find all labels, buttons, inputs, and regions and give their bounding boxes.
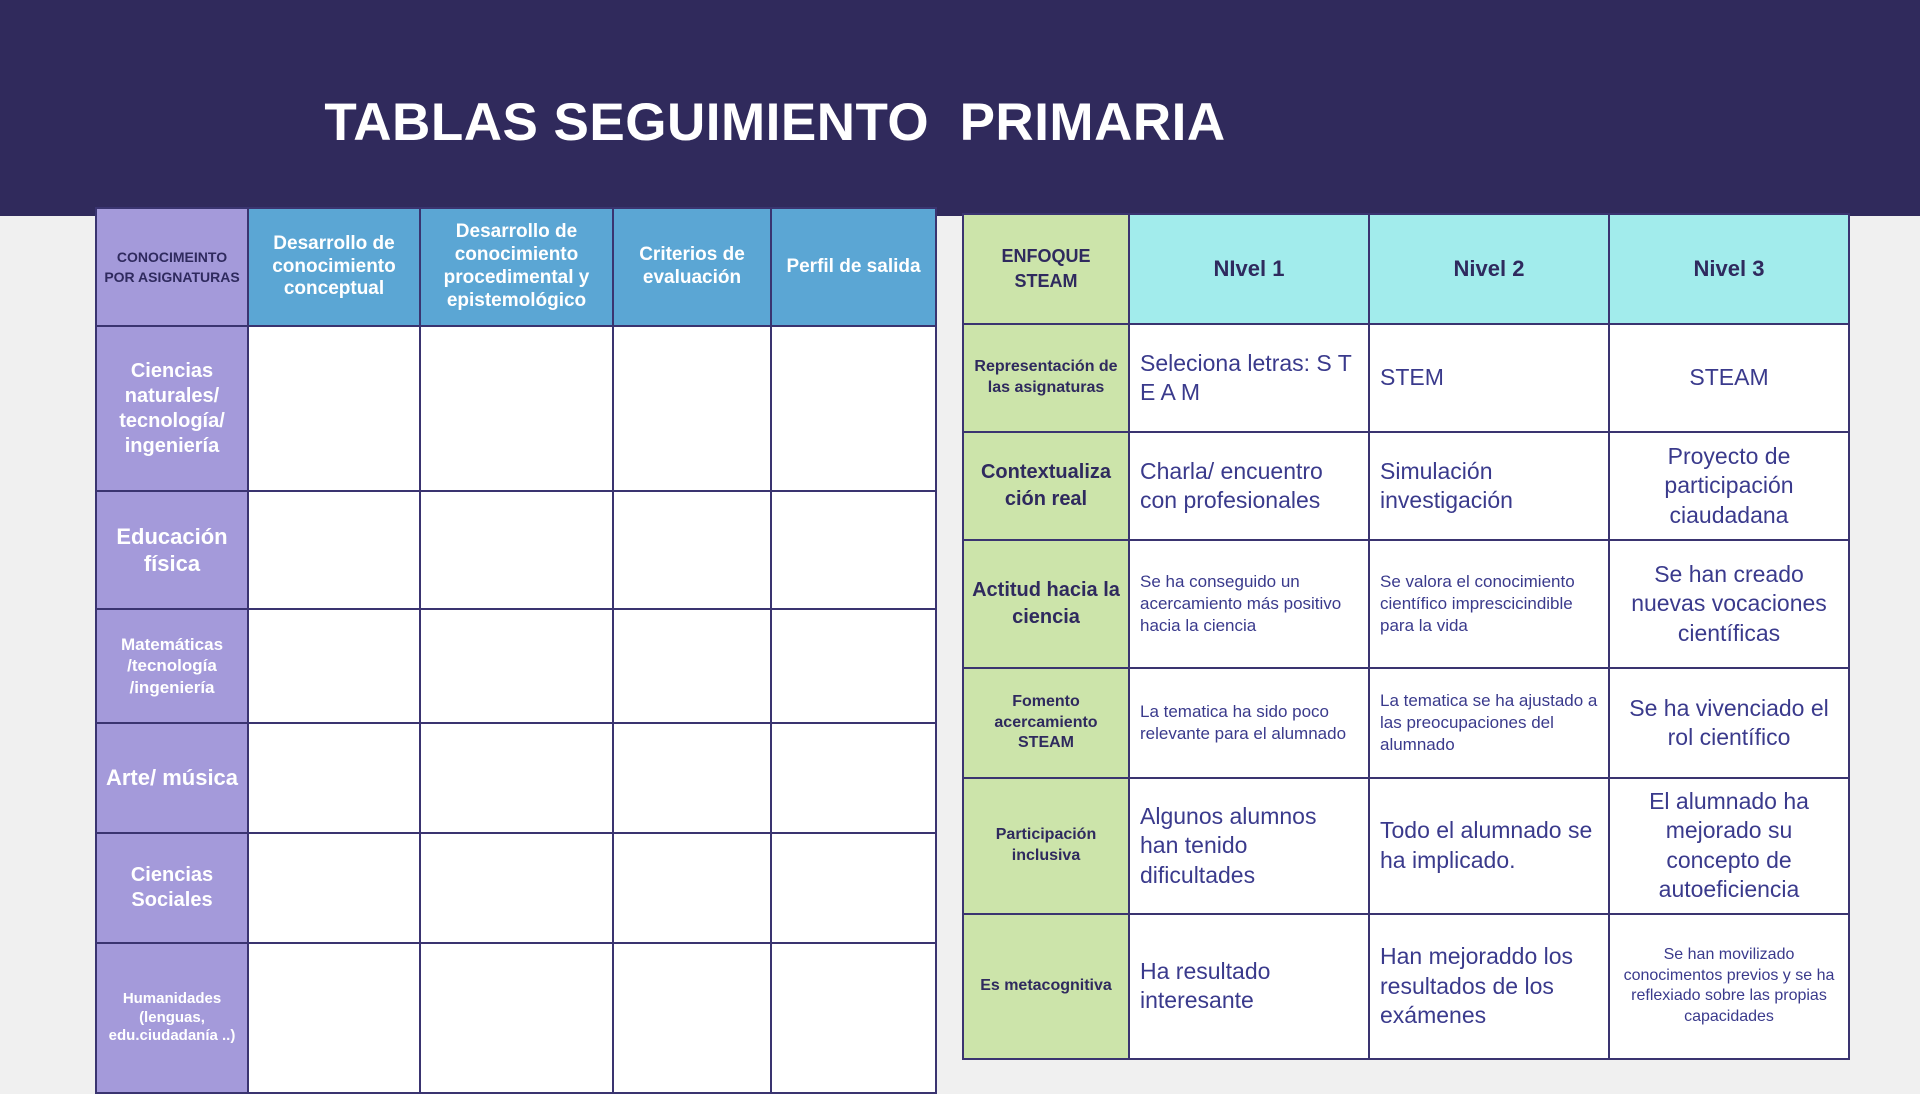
left-cell-5-0[interactable]: [248, 943, 420, 1093]
left-cell-2-2[interactable]: [613, 609, 771, 723]
left-cell-5-1[interactable]: [420, 943, 613, 1093]
table-row: Ciencias naturales/ tecnología/ ingenier…: [96, 326, 936, 491]
left-row-label-matematicas: Matemáticas /tecnología /ingeniería: [96, 609, 248, 723]
right-row-label-metacognitiva: Es metacognitiva: [963, 914, 1129, 1059]
left-cell-0-2[interactable]: [613, 326, 771, 491]
left-col-header-procedimental: Desarrollo de conocimiento procedimental…: [420, 208, 613, 326]
table-row: Actitud hacia la ciencia Se ha conseguid…: [963, 540, 1849, 668]
right-cell-actitud-nivel2[interactable]: Se valora el conocimiento científico imp…: [1369, 540, 1609, 668]
left-cell-3-0[interactable]: [248, 723, 420, 833]
left-cell-1-1[interactable]: [420, 491, 613, 609]
left-cell-4-3[interactable]: [771, 833, 936, 943]
table-row: Fomento acercamiento STEAM La tematica h…: [963, 668, 1849, 778]
table-row: Ciencias Sociales: [96, 833, 936, 943]
left-cell-4-1[interactable]: [420, 833, 613, 943]
right-cell-contextualizacion-nivel1[interactable]: Charla/ encuentro con profesionales: [1129, 432, 1369, 540]
table-row: Arte/ música: [96, 723, 936, 833]
left-cell-5-2[interactable]: [613, 943, 771, 1093]
left-cell-2-3[interactable]: [771, 609, 936, 723]
left-row-label-arte-musica: Arte/ música: [96, 723, 248, 833]
right-cell-actitud-nivel3[interactable]: Se han creado nuevas vocaciones científi…: [1609, 540, 1849, 668]
right-cell-metacognitiva-nivel2[interactable]: Han mejoraddo los resultados de los exám…: [1369, 914, 1609, 1059]
right-col-header-nivel-1: NIvel 1: [1129, 214, 1369, 324]
left-cell-2-1[interactable]: [420, 609, 613, 723]
right-table-head: ENFOQUE STEAM NIvel 1 Nivel 2 Nivel 3: [963, 214, 1849, 324]
right-row-label-participacion: Participación inclusiva: [963, 778, 1129, 914]
right-cell-contextualizacion-nivel3[interactable]: Proyecto de participación ciaudadana: [1609, 432, 1849, 540]
right-cell-representacion-nivel3[interactable]: STEAM: [1609, 324, 1849, 432]
right-cell-contextualizacion-nivel2[interactable]: Simulación investigación: [1369, 432, 1609, 540]
right-row-label-contextualizacion: Contextualiza ción real: [963, 432, 1129, 540]
table-row: Humanidades (lenguas, edu.ciudadanía ..): [96, 943, 936, 1093]
left-table-body: Ciencias naturales/ tecnología/ ingenier…: [96, 326, 936, 1093]
left-row-label-humanidades: Humanidades (lenguas, edu.ciudadanía ..): [96, 943, 248, 1093]
table-row: Matemáticas /tecnología /ingeniería: [96, 609, 936, 723]
right-cell-metacognitiva-nivel1[interactable]: Ha resultado interesante: [1129, 914, 1369, 1059]
right-cell-fomento-nivel2[interactable]: La tematica se ha ajustado a las preocup…: [1369, 668, 1609, 778]
right-cell-actitud-nivel1[interactable]: Se ha conseguido un acercamiento más pos…: [1129, 540, 1369, 668]
right-row-label-fomento: Fomento acercamiento STEAM: [963, 668, 1129, 778]
steam-levels-table: ENFOQUE STEAM NIvel 1 Nivel 2 Nivel 3 Re…: [962, 213, 1850, 1060]
left-cell-3-2[interactable]: [613, 723, 771, 833]
left-cell-1-2[interactable]: [613, 491, 771, 609]
right-cell-fomento-nivel3[interactable]: Se ha vivenciado el rol científico: [1609, 668, 1849, 778]
left-cell-1-0[interactable]: [248, 491, 420, 609]
right-table-body: Representación de las asignaturas Seleci…: [963, 324, 1849, 1059]
right-table-corner-header: ENFOQUE STEAM: [963, 214, 1129, 324]
right-row-label-representacion: Representación de las asignaturas: [963, 324, 1129, 432]
left-table-header-row: CONOCIMEINTO POR ASIGNATURAS Desarrollo …: [96, 208, 936, 326]
table-row: Representación de las asignaturas Seleci…: [963, 324, 1849, 432]
left-cell-4-0[interactable]: [248, 833, 420, 943]
right-row-label-actitud: Actitud hacia la ciencia: [963, 540, 1129, 668]
left-col-header-conceptual: Desarrollo de conocimiento conceptual: [248, 208, 420, 326]
left-cell-4-2[interactable]: [613, 833, 771, 943]
right-cell-participacion-nivel3[interactable]: El alumnado ha mejorado su concepto de a…: [1609, 778, 1849, 914]
left-row-label-ciencias-sociales: Ciencias Sociales: [96, 833, 248, 943]
left-cell-5-3[interactable]: [771, 943, 936, 1093]
right-cell-representacion-nivel1[interactable]: Seleciona letras: S T E A M: [1129, 324, 1369, 432]
right-cell-participacion-nivel2[interactable]: Todo el alumnado se ha implicado.: [1369, 778, 1609, 914]
right-cell-fomento-nivel1[interactable]: La tematica ha sido poco relevante para …: [1129, 668, 1369, 778]
left-row-label-educacion-fisica: Educación física: [96, 491, 248, 609]
left-col-header-criterios: Criterios de evaluación: [613, 208, 771, 326]
left-cell-2-0[interactable]: [248, 609, 420, 723]
left-cell-0-1[interactable]: [420, 326, 613, 491]
left-table-head: CONOCIMEINTO POR ASIGNATURAS Desarrollo …: [96, 208, 936, 326]
table-row: Contextualiza ción real Charla/ encuentr…: [963, 432, 1849, 540]
right-cell-metacognitiva-nivel3[interactable]: Se han movilizado conocimentos previos y…: [1609, 914, 1849, 1059]
left-cell-0-3[interactable]: [771, 326, 936, 491]
left-col-header-perfil: Perfil de salida: [771, 208, 936, 326]
left-cell-0-0[interactable]: [248, 326, 420, 491]
left-cell-1-3[interactable]: [771, 491, 936, 609]
right-col-header-nivel-2: Nivel 2: [1369, 214, 1609, 324]
table-row: Participación inclusiva Algunos alumnos …: [963, 778, 1849, 914]
right-cell-representacion-nivel2[interactable]: STEM: [1369, 324, 1609, 432]
left-cell-3-3[interactable]: [771, 723, 936, 833]
right-table-header-row: ENFOQUE STEAM NIvel 1 Nivel 2 Nivel 3: [963, 214, 1849, 324]
subjects-tracking-table: CONOCIMEINTO POR ASIGNATURAS Desarrollo …: [95, 207, 937, 1094]
table-row: Es metacognitiva Ha resultado interesant…: [963, 914, 1849, 1059]
left-cell-3-1[interactable]: [420, 723, 613, 833]
page-title: TABLAS SEGUIMIENTO PRIMARIA: [0, 92, 1550, 153]
table-row: Educación física: [96, 491, 936, 609]
right-col-header-nivel-3: Nivel 3: [1609, 214, 1849, 324]
left-row-label-ciencias-naturales: Ciencias naturales/ tecnología/ ingenier…: [96, 326, 248, 491]
left-table-corner-header: CONOCIMEINTO POR ASIGNATURAS: [96, 208, 248, 326]
right-cell-participacion-nivel1[interactable]: Algunos alumnos han tenido dificultades: [1129, 778, 1369, 914]
